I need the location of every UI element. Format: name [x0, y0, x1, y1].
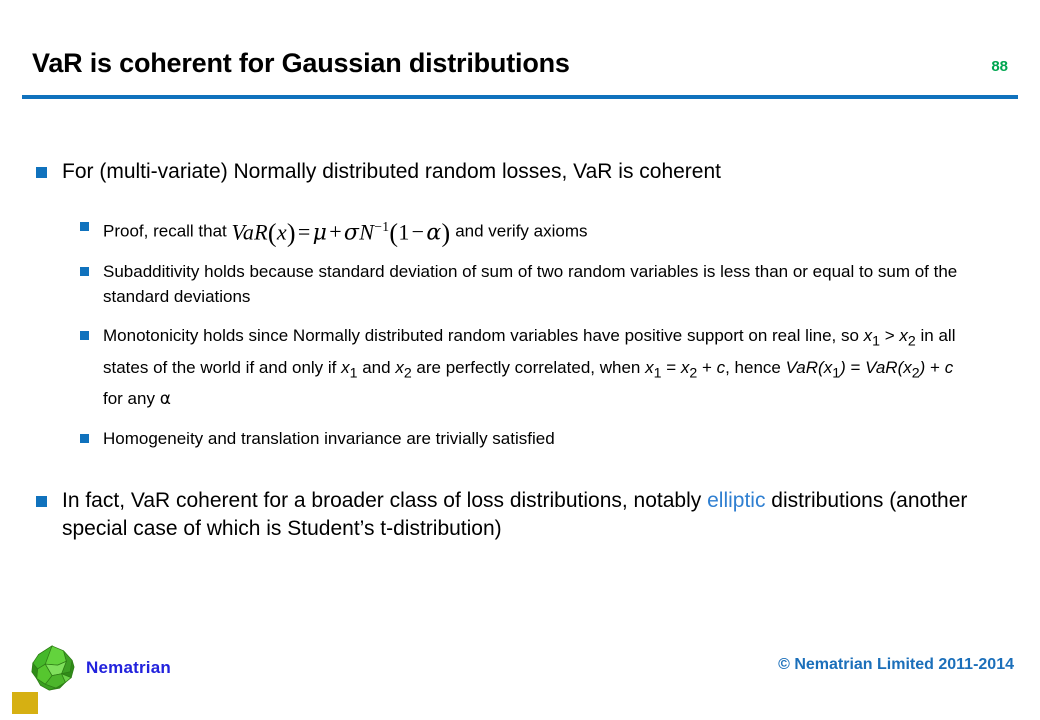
- formula-mu: μ: [313, 220, 328, 245]
- formula-open-paren-2: (: [389, 218, 398, 247]
- mono-seg4: , hence: [725, 358, 786, 377]
- bullet-marker-icon: [80, 434, 89, 443]
- copyright-text: © Nematrian Limited 2011-2014: [778, 656, 1014, 674]
- brand-logo: Nematrian: [28, 644, 171, 692]
- corner-accent-square: [12, 692, 38, 714]
- formula-equals: =: [296, 219, 313, 244]
- bullet-text: For (multi-variate) Normally distributed…: [62, 158, 721, 186]
- formula-var: VaR: [232, 219, 268, 244]
- bullet-item-proof: Proof, recall that VaR(x)=μ+σN−1(1−α) an…: [0, 214, 1040, 245]
- mono-sub1b: 1: [350, 365, 358, 381]
- formula-N: N: [359, 219, 374, 244]
- slide-canvas: VaR is coherent for Gaussian distributio…: [0, 0, 1040, 720]
- mono-seg5: for any: [103, 389, 160, 408]
- mono-x2d: x: [903, 358, 912, 377]
- mono-seg1: Monotonicity holds since Normally distri…: [103, 326, 864, 345]
- mono-alpha: α: [160, 389, 171, 409]
- mono-var2: VaR: [865, 358, 897, 377]
- mono-x1b: x: [341, 358, 350, 377]
- formula-minus: −: [410, 219, 427, 244]
- mono-x1d: x: [824, 358, 833, 377]
- mono-eq2: =: [846, 358, 865, 377]
- bullet-text: In fact, VaR coherent for a broader clas…: [62, 487, 982, 543]
- mono-x2a: x: [899, 326, 908, 345]
- mono-plusc: +: [697, 358, 716, 377]
- mono-plusc2: +: [925, 358, 944, 377]
- formula-plus: +: [327, 219, 344, 244]
- var-formula: VaR(x)=μ+σN−1(1−α): [232, 214, 451, 245]
- mono-x1a: x: [864, 326, 873, 345]
- mono-sub2a: 2: [908, 334, 916, 350]
- bullet-item-coherent: For (multi-variate) Normally distributed…: [0, 158, 1040, 186]
- slide-body: For (multi-variate) Normally distributed…: [0, 158, 1040, 561]
- formula-close-paren-2: ): [442, 218, 451, 247]
- bullet-item-subadditivity: Subadditivity holds because standard dev…: [0, 259, 1040, 309]
- formula-sigma: σ: [344, 220, 359, 245]
- infact-seg1: In fact, VaR coherent for a broader clas…: [62, 489, 707, 512]
- slide-footer: Nematrian © Nematrian Limited 2011-2014: [0, 636, 1040, 720]
- bullet-item-homogeneity: Homogeneity and translation invariance a…: [0, 426, 1040, 451]
- formula-exponent: −1: [374, 219, 389, 234]
- mono-eq1: =: [661, 358, 680, 377]
- formula-open-paren: (: [268, 218, 277, 247]
- bullet-item-elliptic: In fact, VaR coherent for a broader clas…: [0, 487, 1040, 543]
- bullet-item-monotonicity: Monotonicity holds since Normally distri…: [0, 323, 1040, 412]
- mono-c1: c: [717, 358, 726, 377]
- bullet-marker-icon: [36, 167, 47, 178]
- mono-gt: >: [880, 326, 899, 345]
- mono-x2b: x: [395, 358, 404, 377]
- brand-name: Nematrian: [86, 658, 171, 678]
- mono-sub2b: 2: [404, 365, 412, 381]
- mono-var1: VaR: [786, 358, 818, 377]
- mono-sub1a: 1: [872, 334, 880, 350]
- mono-x1c: x: [645, 358, 654, 377]
- formula-x: x: [277, 219, 287, 244]
- mono-c2: c: [945, 358, 954, 377]
- polyhedron-logo-icon: [28, 644, 76, 692]
- mono-and: and: [358, 358, 396, 377]
- elliptic-link[interactable]: elliptic: [707, 489, 765, 512]
- bullet-text: Homogeneity and translation invariance a…: [103, 426, 555, 451]
- bullet-text: Proof, recall that VaR(x)=μ+σN−1(1−α) an…: [103, 214, 588, 245]
- title-divider: [22, 95, 1018, 99]
- bullet-text: Monotonicity holds since Normally distri…: [103, 323, 968, 412]
- page-title: VaR is coherent for Gaussian distributio…: [32, 48, 570, 79]
- formula-one: 1: [398, 219, 409, 244]
- bullet-marker-icon: [80, 222, 89, 231]
- bullet-marker-icon: [36, 496, 47, 507]
- formula-close-paren: ): [287, 218, 296, 247]
- formula-alpha: α: [426, 220, 441, 245]
- bullet-marker-icon: [80, 331, 89, 340]
- bullet-text: Subadditivity holds because standard dev…: [103, 259, 968, 309]
- mono-seg3: are perfectly correlated, when: [412, 358, 645, 377]
- proof-prefix: Proof, recall that: [103, 221, 227, 240]
- proof-suffix: and verify axioms: [455, 221, 587, 240]
- mono-sub1d: 1: [832, 365, 840, 381]
- bullet-marker-icon: [80, 267, 89, 276]
- mono-sub2d: 2: [912, 365, 920, 381]
- page-number: 88: [991, 58, 1008, 75]
